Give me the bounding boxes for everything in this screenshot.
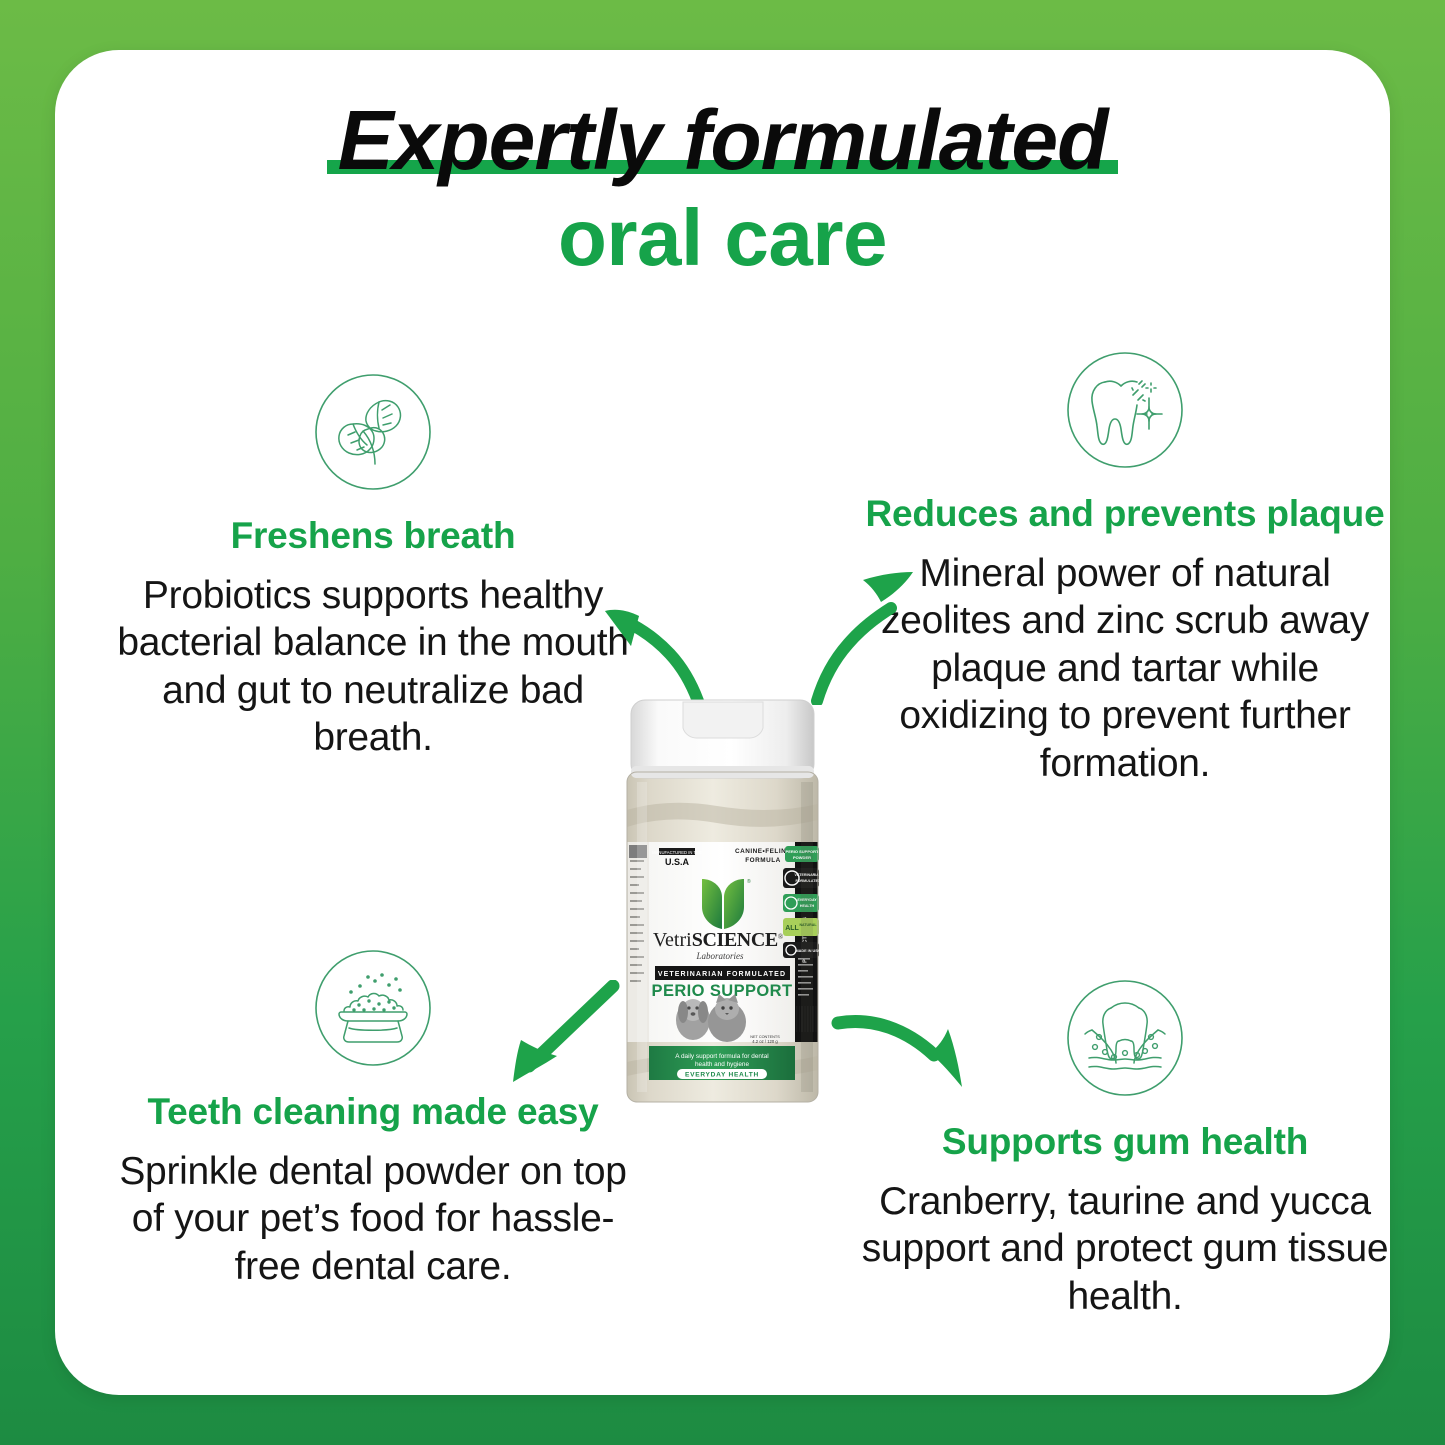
feature-reduces-plaque: Reduces and prevents plaque Mineral powe… (855, 350, 1390, 788)
heading-block: Expertly formulated oral care (55, 50, 1390, 280)
feature-freshens-breath: Freshens breath Probiotics supports heal… (103, 372, 643, 762)
mint-leaf-icon (313, 372, 433, 492)
pet-food-bowl-icon (313, 948, 433, 1068)
svg-text:4.2 oz / 120 g: 4.2 oz / 120 g (752, 1039, 778, 1044)
svg-text:MANUFACTURED IN THE: MANUFACTURED IN THE (652, 850, 702, 855)
svg-text:FORMULA: FORMULA (745, 857, 780, 864)
feature-body: Sprinkle dental powder on top of your pe… (103, 1148, 643, 1291)
svg-text:VetriSCIENCE®: VetriSCIENCE® (653, 929, 784, 951)
tooth-gum-icon (1065, 978, 1185, 1098)
feature-title: Freshens breath (103, 514, 643, 558)
headline-primary-wrap: Expertly formulated (324, 98, 1122, 182)
svg-text:health and hygiene: health and hygiene (695, 1061, 749, 1068)
product-bottle-image: MANUFACTURED IN THE U.S.A CANINE•FELINE … (615, 690, 830, 1120)
feature-body: Probiotics supports healthy bacterial ba… (103, 572, 643, 762)
svg-text:ALL: ALL (785, 925, 799, 932)
curved-arrow-down-right-icon (830, 995, 995, 1115)
sparkling-tooth-icon (1065, 350, 1185, 470)
feature-title: Supports gum health (855, 1120, 1390, 1164)
feature-title: Reduces and prevents plaque (855, 492, 1390, 536)
headline-primary: Expertly formulated (324, 98, 1122, 182)
headline-secondary: oral care (55, 196, 1390, 280)
curved-arrow-up-right-icon (795, 560, 925, 710)
svg-text:Laboratories: Laboratories (695, 951, 744, 961)
svg-text:EVERYDAY HEALTH: EVERYDAY HEALTH (685, 1072, 759, 1079)
svg-text:VETERINARIAN FORMULATED: VETERINARIAN FORMULATED (658, 971, 786, 978)
infographic-frame: Expertly formulated oral care (0, 0, 1445, 1445)
curved-arrow-up-left-icon (595, 570, 720, 710)
arrow-down-left-icon (485, 980, 625, 1105)
svg-text:A daily support formula for de: A daily support formula for dental (675, 1053, 768, 1060)
feature-body: Cranberry, taurine and yucca support and… (855, 1178, 1390, 1321)
svg-text:CANINE•FELINE: CANINE•FELINE (735, 848, 791, 855)
content-card: Expertly formulated oral care (55, 50, 1390, 1395)
feature-body: Mineral power of natural zeolites and zi… (855, 550, 1390, 788)
svg-text:U.S.A: U.S.A (665, 857, 690, 867)
svg-text:®: ® (747, 878, 751, 885)
